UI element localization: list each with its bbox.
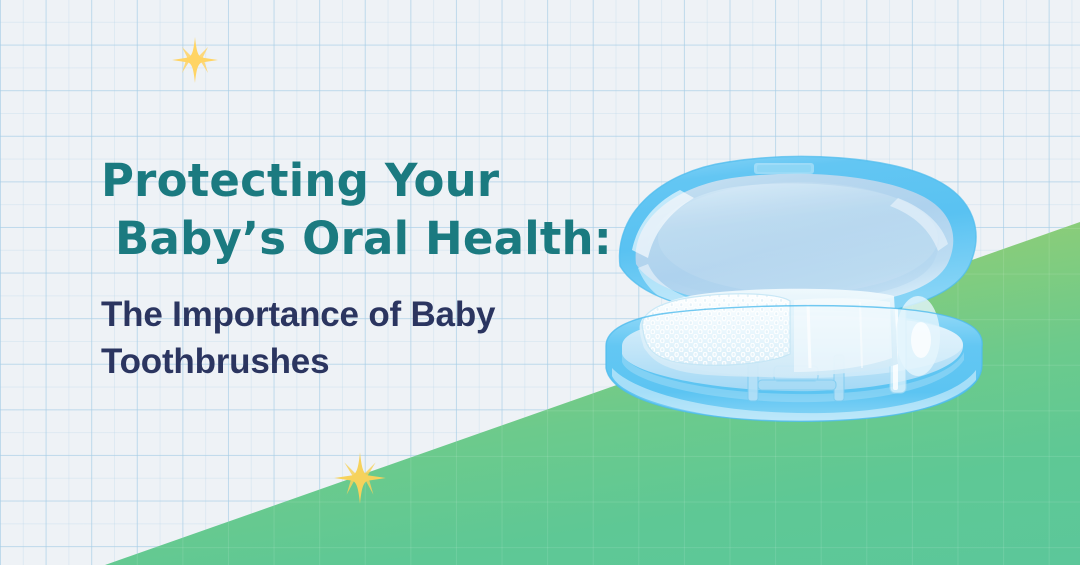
- blog-banner: Protecting Your Baby’s Oral Health: The …: [0, 0, 1080, 565]
- subheadline-line-2: Toothbrushes: [101, 338, 641, 385]
- headline-line-2: Baby’s Oral Health:: [101, 210, 641, 268]
- banner-copy: Protecting Your Baby’s Oral Health: The …: [101, 152, 641, 385]
- subheadline-line-1: The Importance of Baby: [101, 291, 641, 338]
- headline: Protecting Your Baby’s Oral Health:: [101, 152, 641, 268]
- sparkle-icon: [332, 450, 388, 506]
- product-image-baby-toothbrush-case: [598, 118, 988, 463]
- headline-line-1: Protecting Your: [101, 154, 499, 207]
- subheadline: The Importance of Baby Toothbrushes: [101, 291, 641, 385]
- sparkle-icon: [170, 35, 220, 85]
- case-base: [606, 289, 982, 422]
